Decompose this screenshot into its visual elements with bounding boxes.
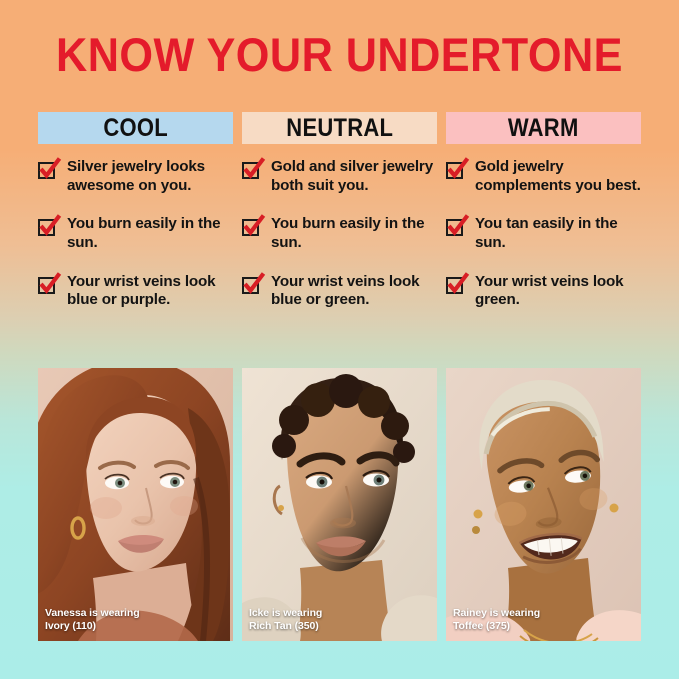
checkbox-checked-icon xyxy=(242,160,264,182)
checkbox-checked-icon xyxy=(38,160,60,182)
photo-caption-icke: Icke is wearing Rich Tan (350) xyxy=(249,607,322,633)
checklist-cool: Silver jewelry looks awesome on you. You… xyxy=(38,158,233,310)
photo-caption-line1: Rainey is wearing xyxy=(453,607,540,620)
checkbox-checked-icon xyxy=(38,217,60,239)
checklist-item-label: You tan easily in the sun. xyxy=(475,215,641,252)
photo-caption-line2: Toffee (375) xyxy=(453,620,540,633)
checklist-item-label: Gold jewelry complements you best. xyxy=(475,158,641,195)
checklist-item: You burn easily in the sun. xyxy=(242,215,437,252)
checkbox-checked-icon xyxy=(446,217,468,239)
undertone-columns: COOL Silver jewelry looks awesome on you… xyxy=(38,112,641,330)
checklist-item-label: You burn easily in the sun. xyxy=(67,215,233,252)
checklist-item: Silver jewelry looks awesome on you. xyxy=(38,158,233,195)
checklist-item: Your wrist veins look blue or green. xyxy=(242,273,437,310)
checkbox-checked-icon xyxy=(242,275,264,297)
photo-caption-rainey: Rainey is wearing Toffee (375) xyxy=(453,607,540,633)
portrait-rainey-image xyxy=(446,368,641,641)
checklist-item: Your wrist veins look blue or purple. xyxy=(38,273,233,310)
undertone-infographic: KNOW YOUR UNDERTONE COOL Silver jewelry … xyxy=(0,0,679,679)
model-photo-vanessa: Vanessa is wearing Ivory (110) xyxy=(38,368,233,641)
checklist-item-label: Gold and silver jewelry both suit you. xyxy=(271,158,437,195)
column-header-neutral-label: NEUTRAL xyxy=(286,114,393,143)
photo-caption-line2: Rich Tan (350) xyxy=(249,620,322,633)
photo-caption-line1: Vanessa is wearing xyxy=(45,607,140,620)
portrait-vanessa-image xyxy=(38,368,233,641)
column-header-neutral: NEUTRAL xyxy=(242,112,437,144)
checklist-item: Gold jewelry complements you best. xyxy=(446,158,641,195)
column-header-warm: WARM xyxy=(446,112,641,144)
checklist-item: You burn easily in the sun. xyxy=(38,215,233,252)
checklist-item-label: Your wrist veins look blue or purple. xyxy=(67,273,233,310)
checklist-item-label: Your wrist veins look green. xyxy=(475,273,641,310)
column-header-cool: COOL xyxy=(38,112,233,144)
checklist-item-label: You burn easily in the sun. xyxy=(271,215,437,252)
checklist-item-label: Your wrist veins look blue or green. xyxy=(271,273,437,310)
checklist-item: Your wrist veins look green. xyxy=(446,273,641,310)
checklist-item-label: Silver jewelry looks awesome on you. xyxy=(67,158,233,195)
model-photos: Vanessa is wearing Ivory (110) xyxy=(38,368,641,641)
checkbox-checked-icon xyxy=(38,275,60,297)
photo-caption-vanessa: Vanessa is wearing Ivory (110) xyxy=(45,607,140,633)
checkbox-checked-icon xyxy=(446,275,468,297)
column-neutral: NEUTRAL Gold and silver jewelry both sui… xyxy=(242,112,437,330)
checkbox-checked-icon xyxy=(446,160,468,182)
photo-caption-line2: Ivory (110) xyxy=(45,620,140,633)
checklist-warm: Gold jewelry complements you best. You t… xyxy=(446,158,641,310)
page-title: KNOW YOUR UNDERTONE xyxy=(27,27,652,82)
column-cool: COOL Silver jewelry looks awesome on you… xyxy=(38,112,233,330)
column-header-cool-label: COOL xyxy=(103,114,168,143)
model-photo-icke: Icke is wearing Rich Tan (350) xyxy=(242,368,437,641)
checklist-item: You tan easily in the sun. xyxy=(446,215,641,252)
checkbox-checked-icon xyxy=(242,217,264,239)
portrait-icke-image xyxy=(242,368,437,641)
checklist-neutral: Gold and silver jewelry both suit you. Y… xyxy=(242,158,437,310)
model-photo-rainey: Rainey is wearing Toffee (375) xyxy=(446,368,641,641)
checklist-item: Gold and silver jewelry both suit you. xyxy=(242,158,437,195)
column-header-warm-label: WARM xyxy=(508,114,579,143)
column-warm: WARM Gold jewelry complements you best. … xyxy=(446,112,641,330)
photo-caption-line1: Icke is wearing xyxy=(249,607,322,620)
